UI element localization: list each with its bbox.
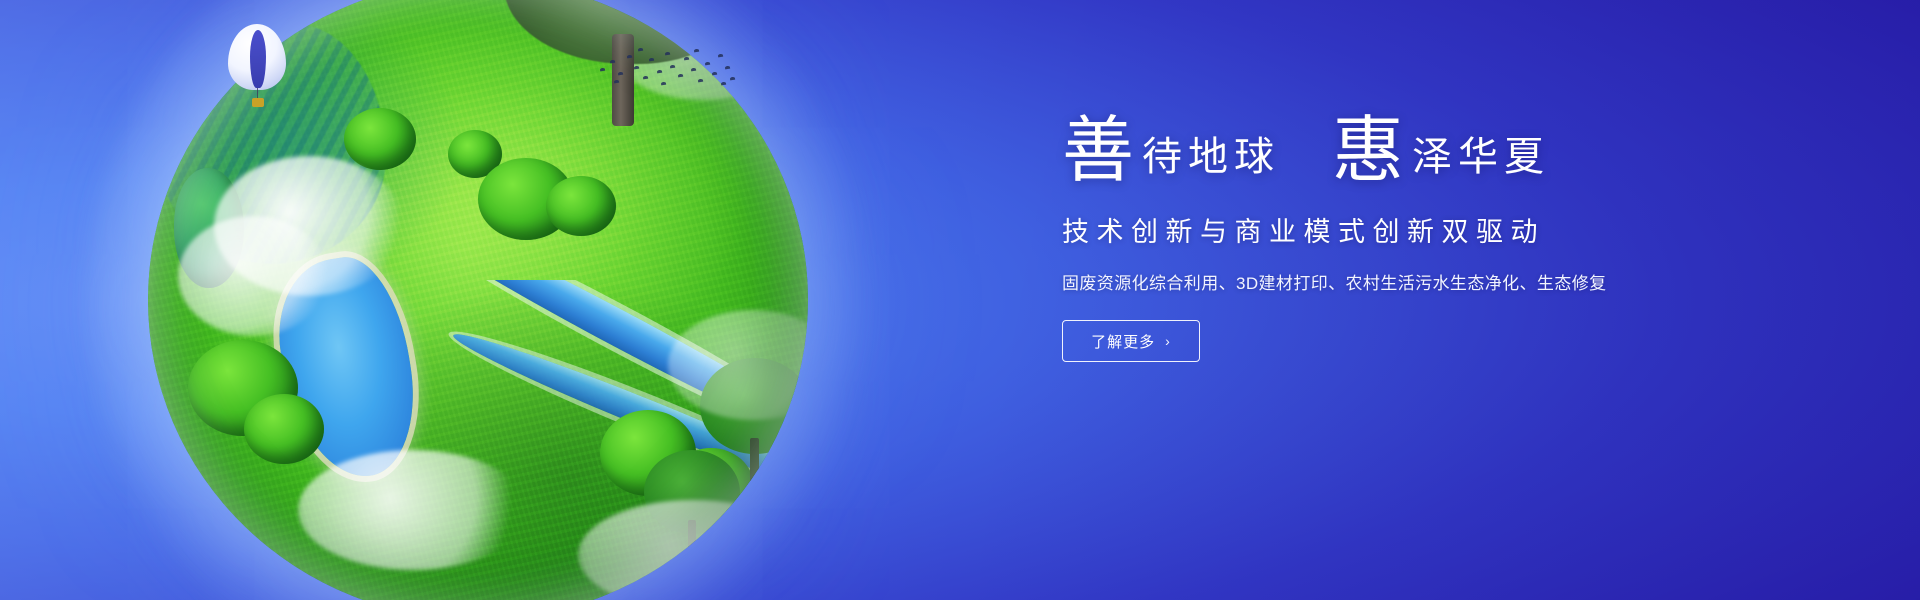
hot-air-balloon-icon	[228, 24, 286, 110]
bird-flock-icon	[596, 46, 736, 92]
bird	[649, 58, 654, 62]
bird	[670, 65, 675, 69]
bird	[665, 52, 670, 56]
bird	[721, 82, 726, 86]
bird	[684, 57, 689, 61]
bird	[610, 60, 615, 64]
bird	[725, 66, 730, 70]
bird	[730, 77, 735, 81]
bird	[698, 79, 703, 83]
headline-rest-1: 待地球	[1134, 137, 1280, 184]
bird	[614, 80, 619, 84]
bird	[718, 54, 723, 58]
bird	[638, 48, 643, 52]
bird	[657, 70, 662, 74]
headline-char-2: 惠	[1332, 118, 1404, 184]
hero-banner: 善 待地球 惠 泽华夏 技术创新与商业模式创新双驱动 固废资源化综合利用、3D建…	[0, 0, 1920, 600]
hero-subtitle: 技术创新与商业模式创新双驱动	[1062, 210, 1682, 249]
bird	[705, 62, 710, 66]
balloon-basket	[252, 98, 264, 107]
hero-content: 善 待地球 惠 泽华夏 技术创新与商业模式创新双驱动 固废资源化综合利用、3D建…	[1062, 118, 1682, 362]
headline-rest-2: 泽华夏	[1404, 137, 1550, 184]
bird	[643, 76, 648, 80]
learn-more-button[interactable]: 了解更多 ›	[1062, 320, 1200, 362]
bird	[694, 49, 699, 53]
bird	[634, 66, 639, 70]
bird	[618, 72, 623, 76]
page-title: 善 待地球 惠 泽华夏	[1062, 118, 1682, 184]
learn-more-label: 了解更多	[1091, 331, 1155, 352]
bird	[661, 82, 666, 86]
chevron-right-icon: ›	[1165, 334, 1171, 348]
headline-char-1: 善	[1062, 118, 1134, 184]
bird	[691, 68, 696, 72]
bird	[627, 55, 632, 59]
balloon-stripe	[250, 30, 266, 88]
hero-description: 固废资源化综合利用、3D建材打印、农村生活污水生态净化、生态修复	[1062, 269, 1682, 294]
bird	[600, 68, 605, 72]
bird	[712, 72, 717, 76]
bird	[678, 74, 683, 78]
